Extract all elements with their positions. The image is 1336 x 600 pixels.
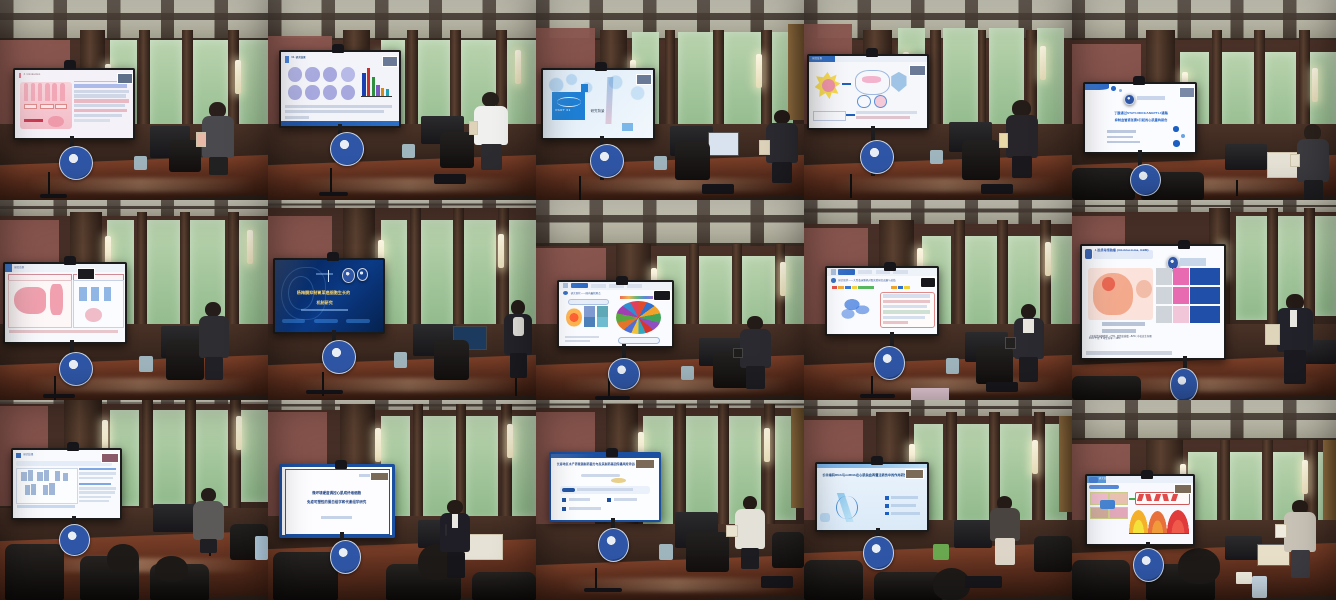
presenter-legs [1012, 156, 1032, 177]
toc-marker [885, 512, 889, 516]
institution-name [1137, 96, 1166, 101]
photo-cell-11[interactable]: 研究结果 [0, 400, 268, 600]
caption-line [285, 110, 384, 113]
annotation-panel [1190, 287, 1220, 304]
university-emblem [874, 346, 905, 380]
wall-pillar [137, 212, 148, 336]
office-chair [1034, 536, 1072, 572]
info-line [569, 507, 601, 510]
webcam [616, 276, 628, 285]
photo-cell-13[interactable]: 长春地区水产养殖源耐药菌分布及其耐药基因传播风险评估研究 [536, 400, 804, 600]
photo-cell-3[interactable]: PART 01 研究背景 [536, 0, 804, 200]
university-emblem-on-slide [342, 268, 355, 283]
photo-cell-7[interactable]: 杨梅酮抑制胃某癌细胞生长的 机制研究 [268, 200, 536, 400]
micrograph-panel [323, 67, 337, 82]
micrograph-panel [341, 85, 355, 100]
green-arrow [1129, 498, 1135, 501]
university-emblem [1130, 164, 1161, 196]
photo-cell-15[interactable]: 研究背景 [1072, 400, 1336, 600]
presentation-screen[interactable]: 03. 研究结果 [279, 50, 401, 128]
dna-strand-outline [836, 496, 858, 520]
presenter-figure [734, 496, 766, 568]
curtain [1323, 440, 1336, 528]
presenter-shirt [1023, 319, 1033, 333]
presenter-legs [481, 144, 501, 170]
audience-head [107, 544, 139, 572]
finding-line [883, 310, 929, 313]
leather-chair [1072, 168, 1135, 200]
decor-block [820, 513, 830, 522]
toc-marker [885, 496, 889, 500]
webcam [1133, 76, 1145, 85]
presentation-screen[interactable]: 研究背景 [1085, 474, 1195, 546]
presenter-light-jacket [1284, 512, 1316, 552]
micrograph-panel [305, 85, 319, 100]
legend-swatch [838, 286, 843, 289]
handheld-tablet [733, 348, 743, 359]
wall-sconce-light [1040, 46, 1046, 80]
presentation-screen[interactable]: 微环境硬度调控心肌成纤维细胞 免疫可塑性的蛋白组学和代谢组学研究 [279, 464, 395, 538]
nav-tab[interactable] [858, 270, 872, 274]
audience-chair [472, 572, 536, 600]
histology-panel [1173, 268, 1189, 285]
green-window [421, 220, 453, 332]
villus-shape [38, 83, 43, 101]
presenter-head [1021, 304, 1036, 319]
shield-graphic [891, 72, 906, 92]
audience-head [155, 556, 187, 582]
legend-swatch [898, 286, 903, 289]
presenter-shirt [452, 514, 458, 528]
presenter-skirt [995, 538, 1015, 565]
presentation-screen[interactable]: 1 胶质母细胞瘤 (Glioblastoma, GBM) [1080, 244, 1227, 360]
micrograph-quadrant [584, 306, 595, 316]
slide-eyebrow-text [316, 273, 333, 275]
wall-pillar [413, 404, 424, 528]
university-emblem [608, 358, 639, 390]
presenter-figure [1005, 100, 1040, 176]
handheld-notes [196, 132, 206, 147]
slide-content: 研究现状——国内最新观点 [559, 282, 672, 346]
handheld-folder [1265, 324, 1280, 345]
presenter-figure [474, 92, 509, 168]
audience-chair [273, 552, 337, 600]
info-line [569, 498, 590, 501]
slide-header: 研究现状——国内最新观点 [571, 292, 601, 295]
university-emblem [330, 540, 361, 574]
bullet-marker [831, 278, 836, 283]
bar [31, 484, 36, 495]
annotation-panel [1190, 306, 1220, 323]
desk-microphone [48, 172, 50, 196]
pie-legend-strip [620, 296, 654, 299]
green-window [1051, 236, 1072, 336]
webcam [606, 448, 618, 457]
wall-pillar [453, 208, 464, 332]
text-line [74, 94, 126, 97]
liver-lobe [50, 284, 62, 315]
photo-cell-2[interactable]: 03. 研究结果 [268, 0, 536, 200]
presentation-screen[interactable]: 长非编码RNA与miRNA在心肌缺血再灌注损伤中的作用研究 [815, 462, 929, 532]
paper-cup [1236, 572, 1252, 584]
slide-header: 研究结果 [23, 453, 33, 456]
caption-line [1102, 322, 1145, 326]
density-curve [1129, 510, 1148, 533]
tumor-marker [1102, 277, 1115, 290]
presenter-figure [440, 500, 472, 576]
photo-cell-9[interactable]: 研究现状——大型临床随机对照实验研究进展与总结 [804, 200, 1072, 400]
photo-cell-14[interactable]: 长非编码RNA与miRNA在心肌缺血再灌注损伤中的作用研究 [804, 400, 1072, 600]
presenter-legs [200, 539, 217, 553]
slide-section-title: 研究背景 [591, 109, 605, 113]
slide-content: 微环境硬度调控心肌成纤维细胞 免疫可塑性的蛋白组学和代谢组学研究 [282, 467, 392, 535]
step-stool [654, 156, 667, 170]
info-marker [562, 498, 566, 502]
slide-content: 03. 研究结果 [281, 52, 399, 126]
slide-content: 研究背景 [1087, 476, 1193, 544]
annotation-panel [1190, 268, 1220, 285]
mri-panel [1156, 306, 1172, 323]
villus-shape [60, 83, 65, 101]
highlighted-text [74, 109, 127, 112]
histology-panel [1173, 287, 1189, 304]
handheld-notes [999, 133, 1008, 147]
caption-box [813, 111, 846, 120]
slide-header: 03. 研究结果 [291, 56, 305, 59]
photo-cell-10[interactable]: 1 胶质母细胞瘤 (Glioblastoma, GBM) [1072, 200, 1336, 400]
step-stool [681, 366, 694, 380]
audience-head [1178, 548, 1220, 584]
corner-thumbnail [636, 74, 652, 85]
nav-logo [1089, 477, 1097, 482]
table-reflection [27, 178, 255, 192]
presenter-figure [766, 110, 798, 182]
caption-line [285, 116, 309, 119]
statistics-text: 占原发性脑肿瘤的 ~77%, 恶性胶质瘤 ~52%; 中位总生存期 14.6 个… [1089, 336, 1152, 342]
micrograph-panel [288, 85, 302, 100]
curtain [791, 408, 804, 508]
green-window [957, 424, 989, 524]
slide-part-label: PART 01 [555, 109, 570, 113]
audience-chair [1072, 560, 1130, 600]
photo-cell-6[interactable]: 研究背景 [0, 200, 268, 400]
wall-pillar [142, 400, 153, 524]
analysis-line [79, 477, 113, 479]
university-emblem [1170, 368, 1198, 400]
presenter-legs [1291, 550, 1310, 577]
wall-pillar [1034, 412, 1045, 536]
university-emblem [330, 132, 364, 166]
green-window [943, 28, 978, 136]
presentation-screen[interactable]: 研究现状——国内最新观点 [557, 280, 674, 348]
university-emblem-on-slide [1124, 94, 1135, 106]
photo-cell-12[interactable]: 微环境硬度调控心肌成纤维细胞 免疫可塑性的蛋白组学和代谢组学研究 [268, 400, 536, 600]
slide-header: 研究现状——大型临床随机对照实验研究进展与总结 [838, 279, 895, 282]
slide-title-line2: 免疫可塑性的蛋白组学和代谢组学研究 [293, 500, 381, 504]
bar [28, 470, 33, 481]
pathway-element [79, 287, 86, 301]
corner-thumbnail [117, 73, 133, 84]
office-chair [675, 142, 710, 180]
slide-title-line1: 丁酸通过STAT1/IDO1/ANGPTL4通路 [1100, 112, 1182, 116]
mri-panel [1156, 268, 1172, 285]
table-reflection [27, 378, 255, 392]
presentation-screen[interactable]: 研究背景 [3, 262, 128, 344]
finding-line [883, 294, 929, 297]
legend-swatch [845, 286, 850, 289]
bar [372, 77, 376, 96]
table-microphone [702, 184, 734, 194]
pathway-box [24, 104, 38, 109]
corner-thumbnail [1174, 484, 1192, 493]
presentation-screen[interactable]: PART 01 研究背景 [541, 68, 655, 140]
university-emblem [1133, 548, 1164, 582]
step-stool [402, 144, 415, 158]
presentation-screen[interactable]: 杨梅酮抑制胃某癌细胞生长的 机制研究 [273, 258, 384, 334]
decor-dot [1173, 126, 1179, 131]
pie-chart [616, 301, 661, 334]
presentation-screen[interactable]: 研究现状——大型临床随机对照实验研究进展与总结 [825, 266, 939, 336]
cell-shape [48, 116, 63, 127]
slide-header: 3. Introduction [24, 73, 41, 76]
toc-marker [885, 504, 889, 508]
audience-chair [5, 544, 64, 600]
webcam [67, 442, 79, 451]
photo-cell-4[interactable]: 研究背景 [804, 0, 1072, 200]
pathway-cell [85, 308, 102, 322]
info-line [1107, 141, 1140, 143]
pathway-box [40, 104, 54, 109]
villus-shape [45, 83, 50, 101]
pink-folder [911, 388, 949, 400]
university-emblem [590, 144, 624, 178]
arrow-connector [842, 83, 851, 84]
equipment-cabinet [153, 504, 196, 532]
green-window [1315, 216, 1336, 316]
slide-title-line2: 抑制血管紧张素Ⅱ引起的心肌重构损伤 [1098, 119, 1184, 123]
presenter-head [205, 302, 221, 317]
summary-line [9, 330, 118, 334]
info-chip [314, 319, 338, 323]
step-stool [134, 156, 147, 170]
presenter-legs [746, 366, 765, 389]
presenter-shirt [1290, 310, 1297, 328]
conclusion-line-highlight [856, 116, 910, 120]
wall-pillar [501, 404, 512, 528]
desk-microphone [1236, 180, 1238, 196]
bullet-marker [563, 291, 569, 295]
brain-detail [1136, 280, 1152, 298]
presenter-legs [447, 552, 465, 578]
presenter-figure [1283, 500, 1317, 576]
presenter-figure [740, 316, 772, 388]
wall-pillar [946, 412, 957, 536]
office-chair [976, 346, 1014, 384]
corner-thumbnail [1179, 87, 1195, 98]
mechanism-node [862, 76, 881, 82]
pathway-box [55, 104, 66, 109]
footnote-line [565, 340, 590, 342]
text-line [74, 90, 128, 93]
presenter-body [1297, 139, 1329, 182]
webcam [335, 460, 347, 469]
table-reflection [831, 178, 1059, 192]
villus-shape [24, 83, 29, 101]
analysis-line [79, 496, 111, 498]
pathway-bar [24, 119, 43, 122]
corner-thumbnail [101, 453, 119, 463]
microphone-base [319, 192, 348, 196]
toc-item [891, 512, 920, 515]
wall-sconce-light [236, 416, 242, 450]
step-stool [394, 352, 407, 368]
subtitle-pill [568, 299, 608, 305]
photo-cell-1[interactable]: 3. Introduction [0, 0, 268, 200]
bar [367, 68, 371, 96]
chart-axis [361, 96, 392, 97]
presenter-figure [193, 488, 225, 552]
green-window [381, 220, 408, 332]
office-chair [434, 340, 469, 380]
info-line [614, 498, 638, 501]
step-stool [659, 544, 672, 560]
microphone-base [306, 390, 344, 394]
corner-thumbnail [77, 268, 95, 280]
coffered-ceiling [1072, 0, 1336, 44]
photo-cell-8[interactable]: 研究现状——国内最新观点 [536, 200, 804, 400]
slide-content: 研究结果 [13, 450, 120, 518]
wall-sconce-light [247, 230, 253, 264]
toc-item [891, 504, 915, 507]
step-stool [139, 356, 152, 372]
presentation-screen[interactable]: 研究结果 [11, 448, 122, 520]
text-line [74, 114, 121, 117]
citation-line [1086, 351, 1172, 354]
presenter-legs [510, 353, 527, 377]
micrograph-quadrant [597, 306, 608, 316]
analysis-line [79, 500, 109, 502]
water-bottle [255, 536, 268, 560]
bar [37, 472, 42, 481]
coffered-ceiling [536, 200, 804, 250]
finding-line [883, 316, 925, 319]
handheld-notes [469, 121, 479, 135]
abstract-label [562, 488, 575, 492]
slide-content: PART 01 研究背景 [543, 70, 653, 138]
corner-thumbnail [920, 277, 936, 288]
presenter-body [1006, 115, 1039, 158]
microphone-base [40, 194, 67, 198]
corner-thumbnail [370, 472, 390, 481]
nav-tab-active[interactable] [571, 283, 588, 288]
wall-sconce-light [764, 428, 770, 462]
photo-grid-collage: 3. Introduction [0, 0, 1336, 600]
info-chip [346, 319, 370, 323]
analysis-heading [79, 483, 111, 486]
blue-sketch-illustration [836, 293, 876, 322]
webcam [871, 456, 883, 465]
slide-content: 杨梅酮抑制胃某癌细胞生长的 机制研究 [275, 260, 382, 332]
analysis-line [79, 487, 115, 489]
legend-swatch [904, 286, 909, 289]
step-stool [930, 150, 943, 164]
density-curve [1148, 511, 1167, 533]
handheld-microphone [445, 524, 447, 536]
slide-header: 研究背景 [812, 57, 822, 60]
presenter-legs [772, 162, 791, 184]
subsection-label [1089, 485, 1119, 489]
step-stool [933, 544, 949, 560]
table-microphone [965, 576, 1003, 588]
finding-line-highlight [883, 300, 929, 303]
bar [49, 483, 54, 495]
presenter-body [740, 329, 770, 368]
decorative-block [622, 123, 633, 131]
leather-chair [1072, 376, 1141, 400]
nav-tab[interactable] [591, 284, 606, 288]
slide-header: 研究背景 [1099, 477, 1109, 480]
presenter-puffer-jacket [193, 501, 225, 541]
webcam [866, 48, 878, 57]
table-reflection [563, 178, 791, 192]
microphone-base [860, 394, 895, 398]
university-emblem [59, 146, 93, 180]
photo-cell-5[interactable]: 丁酸通过STAT1/IDO1/ANGPTL4通路 抑制血管紧张素Ⅱ引起的心肌重构… [1072, 0, 1336, 200]
wall-pillar [718, 404, 729, 528]
wall-sconce-light [507, 424, 513, 458]
bar [43, 485, 48, 495]
slide-content: 丁酸通过STAT1/IDO1/ANGPTL4通路 抑制血管紧张素Ⅱ引起的心肌重构… [1085, 84, 1196, 152]
wall-sconce-light [515, 50, 521, 84]
center-label [1100, 500, 1115, 508]
nav-tab[interactable] [627, 284, 642, 288]
wall-sconce-light [498, 234, 504, 268]
histology-panel [1173, 306, 1189, 323]
cell-core [822, 79, 835, 92]
green-window [464, 220, 496, 332]
presentation-screen[interactable]: 3. Introduction [13, 68, 135, 140]
wall-sconce-light [756, 54, 762, 88]
desk-microphone [579, 176, 581, 200]
green-window [147, 220, 179, 336]
highlighted-text [74, 99, 128, 102]
presentation-screen[interactable]: 研究背景 [807, 54, 929, 130]
presenter-body [474, 106, 507, 146]
presenter-info-line [321, 516, 352, 519]
webcam [64, 60, 76, 69]
presentation-screen[interactable]: 长春地区水产养殖源耐药菌分布及其耐药基因传播风险评估研究 [549, 452, 660, 522]
coffered-ceiling [1072, 400, 1336, 444]
handheld-notes [1275, 524, 1287, 538]
villus-shape [31, 83, 36, 101]
university-emblem [59, 352, 93, 386]
desk-microphone [850, 174, 852, 198]
nav-tab-active[interactable] [838, 269, 854, 274]
equipment-cabinet [954, 520, 992, 548]
info-line [1107, 130, 1136, 132]
table-microphone [981, 184, 1013, 194]
finding-line [883, 305, 927, 308]
section-number-badge [1085, 249, 1092, 259]
webcam [884, 262, 896, 271]
microphone-base [43, 394, 75, 398]
decor-dot [1119, 89, 1122, 92]
presentation-screen[interactable]: 丁酸通过STAT1/IDO1/ANGPTL4通路 抑制血管紧张素Ⅱ引起的心肌重构… [1083, 82, 1198, 154]
secondary-emblem-on-slide [357, 268, 369, 282]
subtitle-band [581, 474, 620, 477]
micrograph-panel [305, 67, 319, 82]
wall-sconce-light [1032, 440, 1038, 474]
